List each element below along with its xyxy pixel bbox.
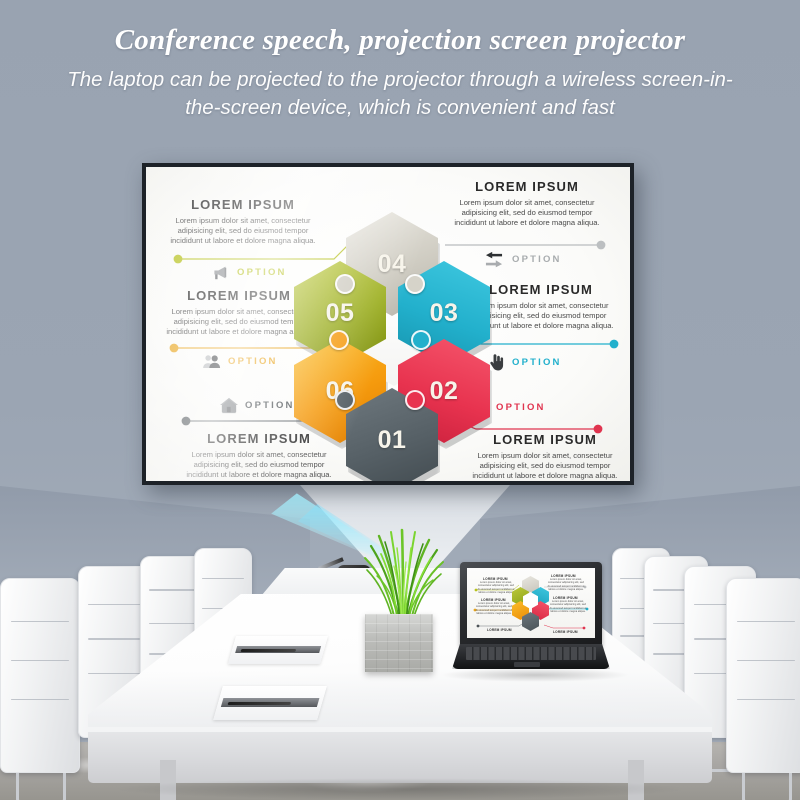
- mini-body: Lorem ipsum dolor sit amet, consectetur …: [475, 602, 513, 616]
- conference-table-apron: [88, 727, 712, 783]
- laptop-touchpad[interactable]: [514, 662, 540, 667]
- callout-heading: LOREM IPSUM: [452, 179, 602, 195]
- mini-heading: LOREM IPSUM: [553, 630, 578, 634]
- page-title: Conference speech, projection screen pro…: [0, 24, 800, 57]
- hexagon-number: 05: [326, 299, 355, 328]
- chair-legs: [742, 773, 792, 800]
- puzzle-knob: [405, 274, 425, 294]
- laptop-keyboard[interactable]: [466, 647, 596, 660]
- page-subtitle: The laptop can be projected to the proje…: [0, 66, 800, 122]
- callout-heading: LOREM IPSUM: [168, 197, 318, 213]
- puzzle-knob: [411, 330, 431, 350]
- conference-table-edge: [88, 727, 712, 732]
- notebook-front[interactable]: [213, 686, 327, 720]
- infographic: LOREM IPSUM Lorem ipsum dolor sit amet, …: [146, 167, 630, 481]
- mini-heading: LOREM IPSUM: [487, 628, 512, 632]
- mini-body: Lorem ipsum dolor sit amet, consectetur …: [549, 600, 587, 614]
- pen-icon: [228, 702, 291, 705]
- pot-texture: [365, 614, 433, 672]
- laptop-infographic-mini: LOREM IPSUM Lorem ipsum dolor sit amet, …: [467, 568, 595, 638]
- laptop-screen[interactable]: LOREM IPSUM Lorem ipsum dolor sit amet, …: [467, 568, 595, 638]
- puzzle-knob: [335, 274, 355, 294]
- mini-body: Lorem ipsum dolor sit amet, consectetur …: [477, 581, 515, 595]
- chair-back: [726, 578, 800, 773]
- plant-pot: [365, 614, 433, 672]
- chair-back: [0, 578, 80, 773]
- megaphone-icon: [212, 265, 231, 280]
- laptop-lid: LOREM IPSUM Lorem ipsum dolor sit amet, …: [460, 562, 602, 646]
- notebook-back[interactable]: [228, 636, 328, 664]
- hexagon-number: 03: [430, 299, 459, 328]
- hexagon-number: 04: [378, 250, 407, 279]
- option-mid-left[interactable]: OPTION: [202, 354, 278, 369]
- option-label: OPTION: [512, 254, 562, 265]
- option-label: OPTION: [228, 356, 278, 367]
- mini-body: Lorem ipsum dolor sit amet, consectetur …: [547, 578, 585, 592]
- screen-frame: LOREM IPSUM Lorem ipsum dolor sit amet, …: [142, 163, 634, 485]
- hexagon-number: 02: [430, 377, 459, 406]
- option-label: OPTION: [512, 357, 562, 368]
- header: Conference speech, projection screen pro…: [0, 0, 800, 122]
- projection-screen[interactable]: LOREM IPSUM Lorem ipsum dolor sit amet, …: [142, 163, 634, 485]
- puzzle-knob: [405, 390, 425, 410]
- grass-plant: [345, 528, 457, 620]
- table-floor-shadow: [110, 778, 690, 800]
- home-icon: [219, 397, 239, 414]
- chair-legs: [16, 773, 66, 800]
- chair-left-1[interactable]: [0, 578, 80, 773]
- hexagon-number: 01: [378, 426, 407, 455]
- puzzle-knob: [329, 330, 349, 350]
- pen-icon: [240, 649, 296, 652]
- users-icon: [202, 354, 222, 369]
- laptop[interactable]: LOREM IPSUM Lorem ipsum dolor sit amet, …: [452, 562, 610, 674]
- puzzle-knob: [335, 390, 355, 410]
- chair-right-4[interactable]: [726, 578, 800, 773]
- hexagon-cluster: 04 05 03 06 02: [272, 212, 512, 462]
